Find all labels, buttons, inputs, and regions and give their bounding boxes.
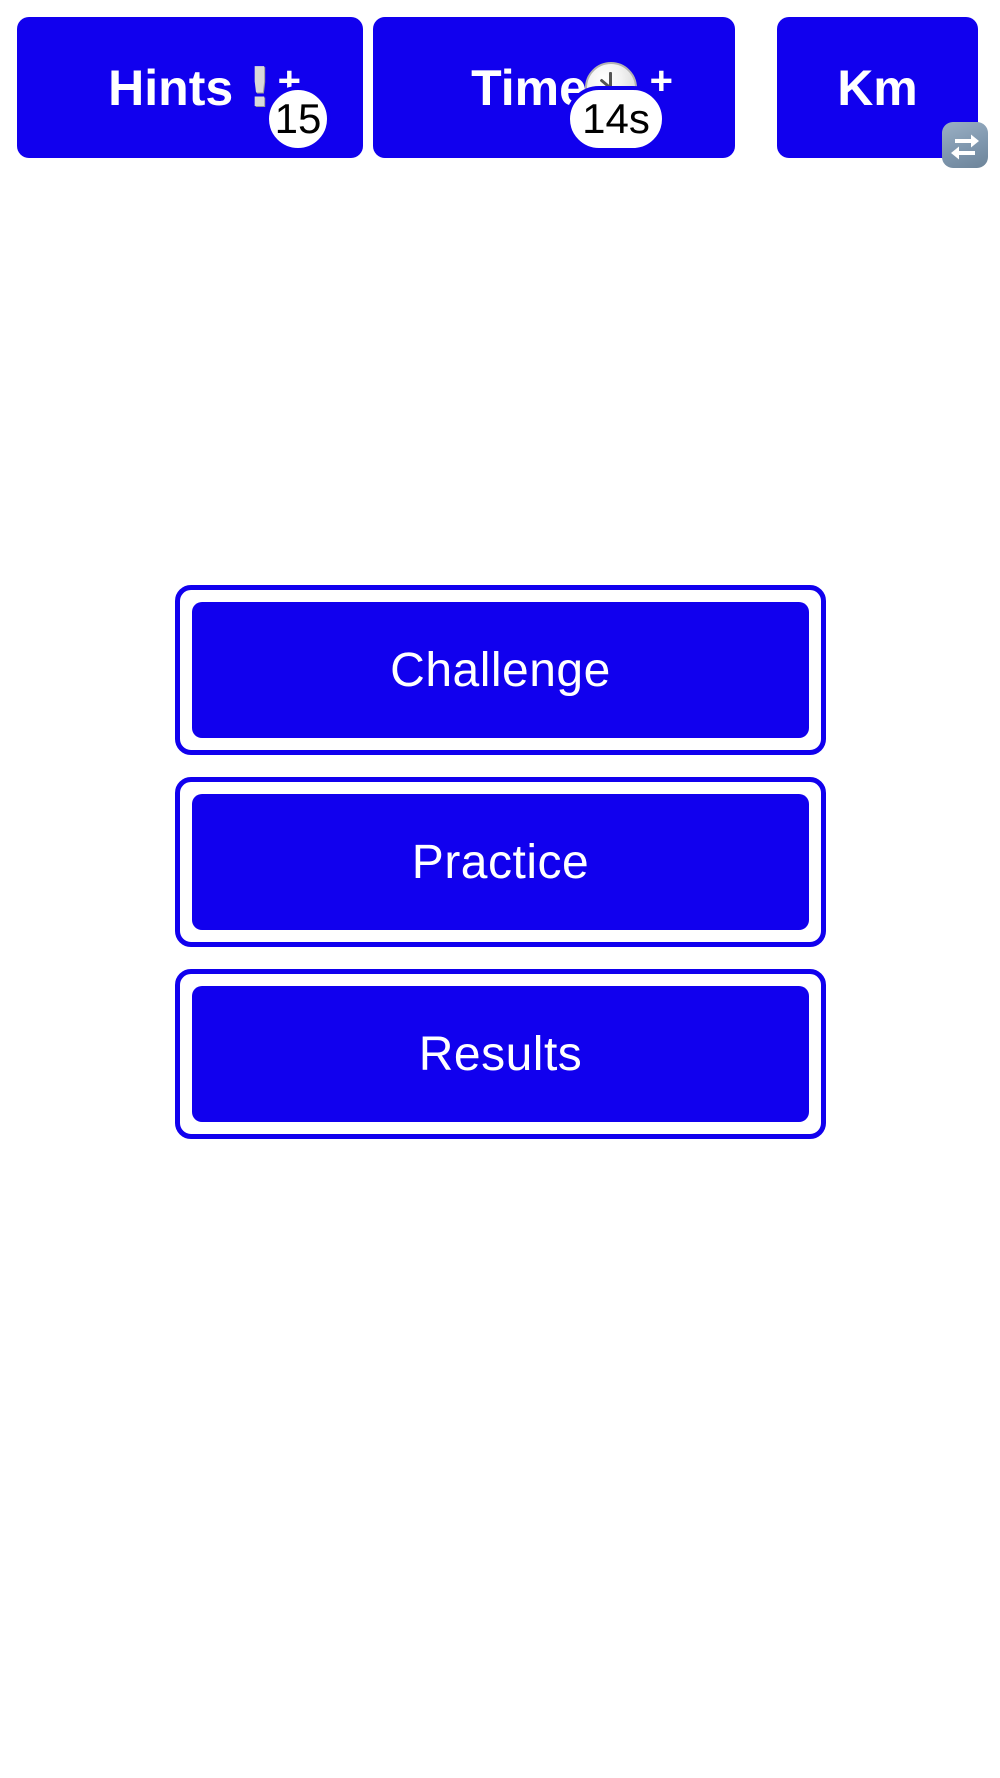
practice-button[interactable]: Practice [175, 777, 826, 947]
practice-button-label: Practice [192, 794, 809, 930]
time-value-badge: 14s [566, 86, 666, 152]
repeat-icon[interactable] [942, 122, 988, 168]
results-button-label: Results [192, 986, 809, 1122]
results-button[interactable]: Results [175, 969, 826, 1139]
hints-count-badge: 15 [265, 86, 331, 152]
challenge-button-label: Challenge [192, 602, 809, 738]
challenge-button[interactable]: Challenge [175, 585, 826, 755]
main-menu: Challenge Practice Results [0, 0, 1000, 1778]
